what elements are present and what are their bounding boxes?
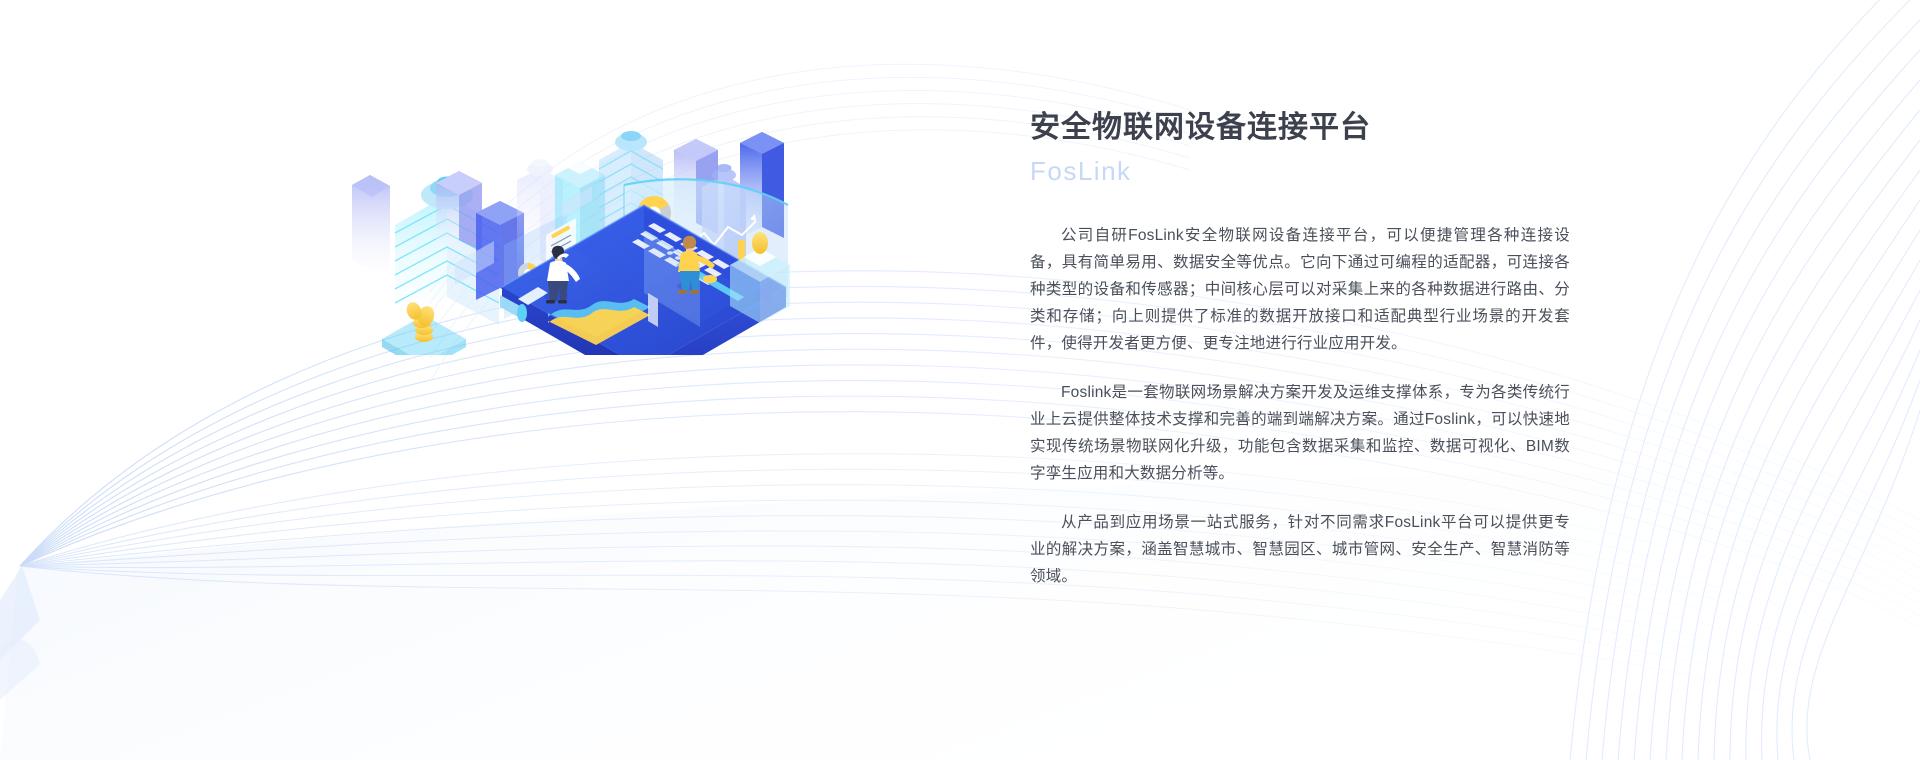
paragraph-1: 公司自研FosLink安全物联网设备连接平台，可以便捷管理各种连接设备，具有简单…	[1030, 222, 1570, 357]
paragraph-3: 从产品到应用场景一站式服务，针对不同需求FosLink平台可以提供更专业的解决方…	[1030, 509, 1570, 590]
page-root: 安全物联网设备连接平台 FosLink 公司自研FosLink安全物联网设备连接…	[0, 0, 1920, 760]
gold-coin-stack	[382, 300, 466, 355]
building-far-left	[352, 175, 390, 280]
page-title: 安全物联网设备连接平台	[1030, 106, 1570, 150]
description-paragraphs: 公司自研FosLink安全物联网设备连接平台，可以便捷管理各种连接设备，具有简单…	[1030, 222, 1570, 590]
content-area: 安全物联网设备连接平台 FosLink 公司自研FosLink安全物联网设备连接…	[0, 0, 1920, 760]
paragraph-2: Foslink是一套物联网场景解决方案开发及运维支撑体系，专为各类传统行业上云提…	[1030, 379, 1570, 487]
building-violet-slab	[436, 171, 482, 252]
page-subtitle: FosLink	[1030, 152, 1570, 190]
hero-illustration	[352, 55, 802, 355]
hero-text-column: 安全物联网设备连接平台 FosLink 公司自研FosLink安全物联网设备连接…	[1030, 106, 1570, 590]
